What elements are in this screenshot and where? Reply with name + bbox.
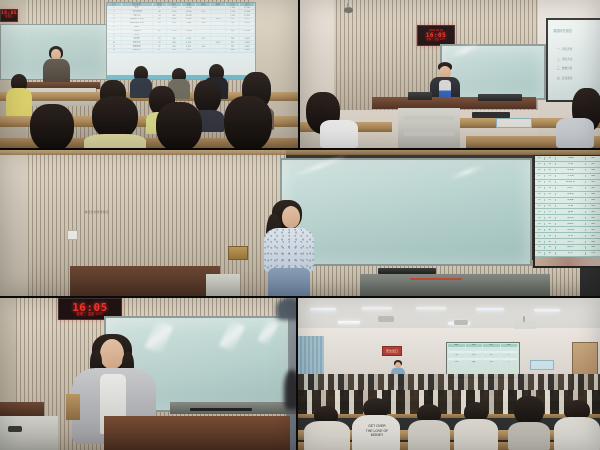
seated-student [556,88,600,148]
table-cell: 540 [483,361,501,364]
spreadsheet-cell: 10,350 [182,30,197,33]
table-cell: 562 [483,347,501,350]
roster-cell: 29 [545,223,556,225]
roster-cell: 何 露 [556,205,587,207]
roster-cell: 480 [586,246,600,248]
table-cell: 三班 [448,361,466,364]
spreadsheet-cell [211,49,226,52]
roster-cell: 23 [545,187,556,189]
spreadsheet-cell [211,26,226,29]
roster-cell: 485 [586,181,600,183]
table-cell: 2 [501,351,519,354]
podium-drawers [404,124,454,128]
spreadsheet-cell: 1,546 [226,10,241,13]
roster-cell: 34 [545,252,556,254]
spreadsheet-cell: 9 [107,37,122,40]
spreadsheet-cell: 8,610 [182,45,197,48]
roster-cell: 479 [586,252,600,254]
seated-student [302,92,358,148]
roster-cell: 黄 静 [556,211,587,213]
roster-cell: 王子涵 [556,175,587,177]
spreadsheet-cell: 1,150 [167,30,182,33]
roster-cell: 483 [586,205,600,207]
spreadsheet-cell: 718 [226,22,241,25]
roster-cell: 14 [535,157,545,159]
spreadsheet-cell: 8,518 [240,22,255,25]
spreadsheet-cell [167,26,182,29]
table-cell: 二班 [448,354,466,357]
student-body-back [454,419,498,450]
spreadsheet-cell: 2,100 [167,10,182,13]
spreadsheet-cell: 2 [107,10,122,13]
roster-cell: 481 [586,229,600,231]
spreadsheet-cell: 563 [226,37,241,40]
roster-cell: 482 [586,223,600,225]
spreadsheet-cell [153,26,168,29]
spreadsheet-cell: 1,380 [226,6,241,9]
panel-presenter-whiteboard: 教室使用管理规定 1418李晓琳4871519刘 倩4871620陈宇航4861… [0,150,600,296]
desk-left-body [0,416,58,450]
roster-cell: 29 [535,246,545,248]
podium-monitor [408,92,432,100]
lectern-monitor [378,268,436,274]
roster-cell: 高 洁 [556,252,587,254]
roster-cell: 李晓琳 [556,157,587,159]
lectern-left-body [206,274,240,296]
ceiling-light [476,308,504,311]
spreadsheet-cell: 6,120 [182,37,197,40]
spreadsheet-cell: 一期 材料费 [122,10,153,13]
spreadsheet-cell [182,34,197,37]
student-hair-back [224,96,272,148]
ceiling-light [362,307,392,310]
spreadsheet-cell: 0.96 [196,45,211,48]
spreadsheet-cell: 1,877 [226,18,241,21]
foreground-student: GET OVERTHE LOVE OFMONEY [352,398,400,450]
foreground-student [508,396,550,450]
roster-cell: 胡宇轩 [556,246,587,248]
desk-left [0,402,44,416]
spreadsheet-cell: 18,346 [240,10,255,13]
foreground-student [150,102,208,148]
roster-cell: 21 [545,175,556,177]
tshirt-print: GET OVERTHE LOVE OFMONEY [364,424,390,438]
student-body-back [304,421,350,450]
student-body-back [508,422,550,450]
spreadsheet-cell: 15 [153,22,168,25]
foreground-student [304,406,350,450]
roster-cell: 482 [586,217,600,219]
spreadsheet-cell [167,34,182,37]
spreadsheet-cell: 0.98 [196,22,211,25]
roster-cell: 27 [535,235,545,237]
roster-cell: 30 [535,252,545,254]
ceiling-fan [454,320,468,325]
roster-cell: 周子豪 [556,217,587,219]
spreadsheet-cell: 1,250 [167,6,182,9]
student-body-back [554,417,600,450]
roster-cell: 27 [545,211,556,213]
roster-cell: 刘 倩 [556,163,587,165]
student-body-back [408,420,450,450]
ceiling-projector [514,321,536,329]
slide-bullet: 二、研究方法 [557,57,573,61]
table-cell: 李娜 [466,351,484,354]
roster-cell: 20 [535,193,545,195]
spreadsheet-cell: 4 [107,18,122,21]
spreadsheet-cell: 5,320 [182,49,197,52]
dome-camera-icon [344,7,353,13]
spreadsheet-cell [211,45,226,48]
student-shirt [556,118,594,148]
spreadsheet-cell: 21 [153,45,168,48]
spreadsheet-cell: 18 [153,37,168,40]
light-switch [67,230,78,240]
blurred-person [284,370,296,410]
student-head [100,339,124,369]
spreadsheet-cell: 0.95 [196,10,211,13]
spreadsheet-cell: 0.97 [196,37,211,40]
spreadsheet-cell: 3,520 [182,41,197,44]
roster-cell: 26 [535,229,545,231]
led-clock-sub: 星期三 温度 23℃ [426,39,445,41]
spreadsheet-cell: 9,402 [240,45,255,48]
spreadsheet-cell: 6,683 [240,37,255,40]
ceiling-light [310,308,336,311]
blurred-person [276,298,296,320]
presenter-head [282,206,300,228]
spreadsheet-cell: 680 [167,14,182,17]
roster-cell: 33 [545,246,556,248]
spreadsheet-cell: 运输及保险 服务 [122,22,153,25]
spreadsheet-cell: 09 [153,30,168,33]
spreadsheet-cell: 3,400 [167,18,182,21]
roster-cell: 17 [535,175,545,177]
spreadsheet-cell: 520 [167,22,182,25]
table-cell: 刘洋 [466,358,484,361]
podium-equipment [478,94,522,101]
led-clock: 2024-05-22 16:05 星期三 温度 23℃ [417,25,455,46]
table-cell: 一班 [448,347,466,350]
table-cell: 3 [501,354,519,357]
table-cell: 张伟 [466,347,484,350]
table-body: 一班张伟5621一班李娜5582二班王芳5513二班刘洋5474三班陈静5405 [448,347,518,365]
student-body-back [84,134,146,148]
spreadsheet-cell: 952 [226,30,241,33]
spreadsheet-cell: 10 [107,41,122,44]
spreadsheet-cell [211,14,226,17]
roster-body: 1418李晓琳4871519刘 倩4871620陈宇航4861721王子涵486… [535,156,600,257]
slide-bullet: 四、结论建议 [557,76,573,80]
panel-lecture-hall-spreadsheet: 16:05 星期三 序号 项目名称 数量 单价 金额 折扣 税率 小计 [0,0,298,148]
roster-footer-photo [535,257,600,266]
roster-cell: 31 [545,235,556,237]
roster-cell: 28 [545,217,556,219]
spreadsheet-cell: 8 [107,34,122,37]
spreadsheet-cell: 0.90 [196,18,211,21]
spreadsheet-cell: 5 [107,22,122,25]
spreadsheet-cell: 0.06 [211,18,226,21]
ceiling [298,298,600,332]
spreadsheet-cell [211,22,226,25]
projector-mount [523,316,525,322]
spreadsheet-cell: 7 [107,30,122,33]
roster-cell: 26 [545,205,556,207]
spreadsheet-cell: 检测 [122,26,153,29]
foreground-student [554,400,600,450]
foreground-student [454,402,498,450]
spreadsheet-cell: 22,277 [240,18,255,21]
spreadsheet-cell: 6 [107,26,122,29]
roster-cell: 赵佳怡 欣 [556,181,587,183]
spreadsheet-cell: 设备采购与安装 [122,18,153,21]
pointer-stick [190,408,252,411]
spreadsheet-cell: 410 [167,45,182,48]
ceiling-light [534,309,560,312]
table-cell: 一班 [448,351,466,354]
spreadsheet-cell [240,34,255,37]
roster-cell: 481 [586,235,600,237]
roster-cell: 480 [586,241,600,243]
podium-drawers [404,132,454,136]
roster-cell: 19 [535,187,545,189]
roster-cell: 21 [535,199,545,201]
spreadsheet-cell [226,26,241,29]
presenter [258,200,320,296]
spreadsheet-cell [196,14,211,17]
spreadsheet-cell: 5,809 [240,49,255,52]
spreadsheet-cell [211,6,226,9]
spreadsheet-cell: 15,000 [182,6,197,9]
foreground-student [24,104,80,148]
roster-cell: 郑雪婷 [556,223,587,225]
student-hair-back [156,102,202,148]
spreadsheet-cell [196,6,211,9]
table-cell: 陈静 [466,361,484,364]
foreground-student [408,404,450,450]
table-cell: 4 [501,358,519,361]
table-cell: 547 [483,358,501,361]
roster-cell: 30 [545,229,556,231]
table-row: 三班陈静5405 [448,361,518,365]
score-roster-board: 1418李晓琳4871519刘 倩4871620陈宇航4861721王子涵486… [533,154,600,268]
spreadsheet-cell: 工程服务 [122,30,153,33]
table-cell: 王芳 [466,354,484,357]
student-hair-back [30,104,74,148]
roster-cell: 25 [535,223,545,225]
roster-cell: 487 [586,157,600,159]
roster-cell: 朱 琪 [556,235,587,237]
roster-cell: 28 [535,241,545,243]
spreadsheet-cell [226,34,241,37]
spreadsheet-body: 1合计121,25015,0001,38016,3802一期 材料费082,10… [107,6,255,53]
roster-cell: 486 [586,169,600,171]
roster-cell: 24 [535,217,545,219]
spreadsheet-cell [196,34,211,37]
ceiling-fan [378,316,394,322]
spreadsheet-cell [182,26,197,29]
spreadsheet-cell: 24 [153,14,168,17]
roster-cell: 16 [535,169,545,171]
spreadsheet-cell: 324 [226,41,241,44]
open-notebook [496,118,532,128]
table-cell: 558 [483,351,501,354]
spreadsheet-cell: 16,320 [182,14,197,17]
table-cell: 二班 [448,358,466,361]
spreadsheet-cell: 08 [153,10,168,13]
spreadsheet-cell [196,30,211,33]
spreadsheet-cell: 489 [226,49,241,52]
spreadsheet-cell [211,30,226,33]
spreadsheet-cell: 07 [153,49,168,52]
spreadsheet-cell: 合计 [122,6,153,9]
roster-cell: 485 [586,187,600,189]
top-bench-sliver [0,150,600,155]
spreadsheet-cell: 340 [167,37,182,40]
foreground-student [216,96,278,148]
spreadsheet-cell: 维护费 [122,37,153,40]
led-clock-sub: 星期三 温度 23℃ [76,313,103,316]
exit-sign: 安全出口 [382,346,402,356]
spreadsheet-cell [196,41,211,44]
spreadsheet-cell: 16,380 [240,6,255,9]
spreadsheet-cell [240,26,255,29]
podium-body [398,108,460,148]
roster-cell: 18 [545,157,556,159]
spreadsheet-cell: 04 [153,41,168,44]
roster-cell: 19 [545,163,556,165]
spreadsheet-cell [211,10,226,13]
lectern-foreground [104,416,290,450]
roster-cell: 483 [586,211,600,213]
spreadsheet-cell: 12 [107,49,122,52]
spreadsheet-cell [211,37,226,40]
roster-cell: 22 [545,181,556,183]
pointer-stick [410,278,462,280]
spreadsheet-cell [211,34,226,37]
spreadsheet-row: 12预备费用077605,3204895,809 [107,49,255,53]
spreadsheet-cell: 其他支出 [122,41,153,44]
spreadsheet-cell: 880 [167,41,182,44]
camera-mount [347,3,349,8]
student-shirt [320,120,358,148]
spreadsheet-cell: 17,822 [240,14,255,17]
spreadsheet-cell: 792 [226,45,241,48]
presenter-blouse [264,228,314,272]
roster-cell: 484 [586,193,600,195]
table-cell: 5 [501,361,519,364]
spreadsheet-cell: 二期 人工 [122,14,153,17]
roster-cell: 马小乐 [556,241,587,243]
spreadsheet-cell: 预备费用 [122,49,153,52]
roster-cell: 484 [586,199,600,201]
spreadsheet-cell: 06 [153,18,168,21]
spreadsheet-cell: 1 [107,6,122,9]
foreground-student [84,96,146,148]
spreadsheet-cell: 3 [107,14,122,17]
led-clock-sub: 星期三 [5,16,13,19]
roster-cell: 486 [586,175,600,177]
roster-cell: 15 [535,163,545,165]
roster-cell: 18 [535,181,545,183]
spreadsheet-cell [196,49,211,52]
roster-cell: 吴文静 [556,199,587,201]
roster-cell: 孙瑞宁 [556,187,587,189]
ceiling-light [416,307,446,310]
spreadsheet-cell: 1,502 [226,14,241,17]
panel-student-at-podium: 2024-05-22 16:05 星期三 温度 23℃ 课题研究报告 一、研究背… [300,0,600,148]
spreadsheet-cell: 12 [153,6,168,9]
spreadsheet-cell: 11 [107,45,122,48]
spreadsheet-cell: 11,302 [240,30,255,33]
led-clock: 16:05 星期三 [0,9,18,22]
spreadsheet-cell: 3,844 [240,41,255,44]
panel-full-classroom: 班级 姓名 总分 排名 一班张伟5621一班李娜5582二班王芳5513二班刘洋… [298,298,600,450]
spreadsheet-cell [153,34,168,37]
spreadsheet-cell: 7,800 [182,22,197,25]
roster-cell: 25 [545,199,556,201]
spreadsheet-cell: 培训 [122,34,153,37]
panel-student-grey-hoodie: 16:05 星期三 温度 23℃ [0,298,296,450]
photo-collage: 16:05 星期三 序号 项目名称 数量 单价 金额 折扣 税率 小计 [0,0,600,450]
spreadsheet-cell: 0.06 [211,41,226,44]
ceiling-light [338,321,360,324]
roster-cell: 23 [535,211,545,213]
wood-plaque [228,246,248,260]
spreadsheet-cell: 16,800 [182,10,197,13]
wall-sign: 教室使用管理规定 [85,210,109,214]
roster-cell: 487 [586,163,600,165]
roster-cell: 徐梓涵 [556,229,587,231]
roster-cell: 林思远 [556,193,587,195]
slide-title: 课题研究报告 [553,28,572,33]
podium-drawers [404,116,454,120]
roster-cell: 20 [545,169,556,171]
spreadsheet-cell [196,26,211,29]
socket-plate [8,426,22,432]
chair-back [66,394,80,420]
spreadsheet-cell: 760 [167,49,182,52]
projection-screen: 班级 姓名 总分 排名 一班张伟5621一班李娜5582二班王芳5513二班刘洋… [446,342,520,378]
roster-cell: 陈宇航 [556,169,587,171]
slide-bullet: 三、数据分析 [557,66,573,70]
projected-table: 班级 姓名 总分 排名 一班张伟5621一班李娜5582二班王芳5513二班刘洋… [447,343,519,377]
lectern-left [70,266,220,296]
exit-sign-label: 安全出口 [383,347,401,355]
slide-bullet: 一、研究背景 [557,47,573,51]
roster-cell: 22 [535,205,545,207]
spreadsheet-cell: 管理费用 [122,45,153,48]
table-cell: 551 [483,354,501,357]
spreadsheet-cell: 20,400 [182,18,197,21]
wall-poster [530,360,554,370]
presenter-jeans [268,268,310,296]
roster-cell: 24 [545,193,556,195]
roster-cell: 32 [545,241,556,243]
table-cell: 1 [501,347,519,350]
